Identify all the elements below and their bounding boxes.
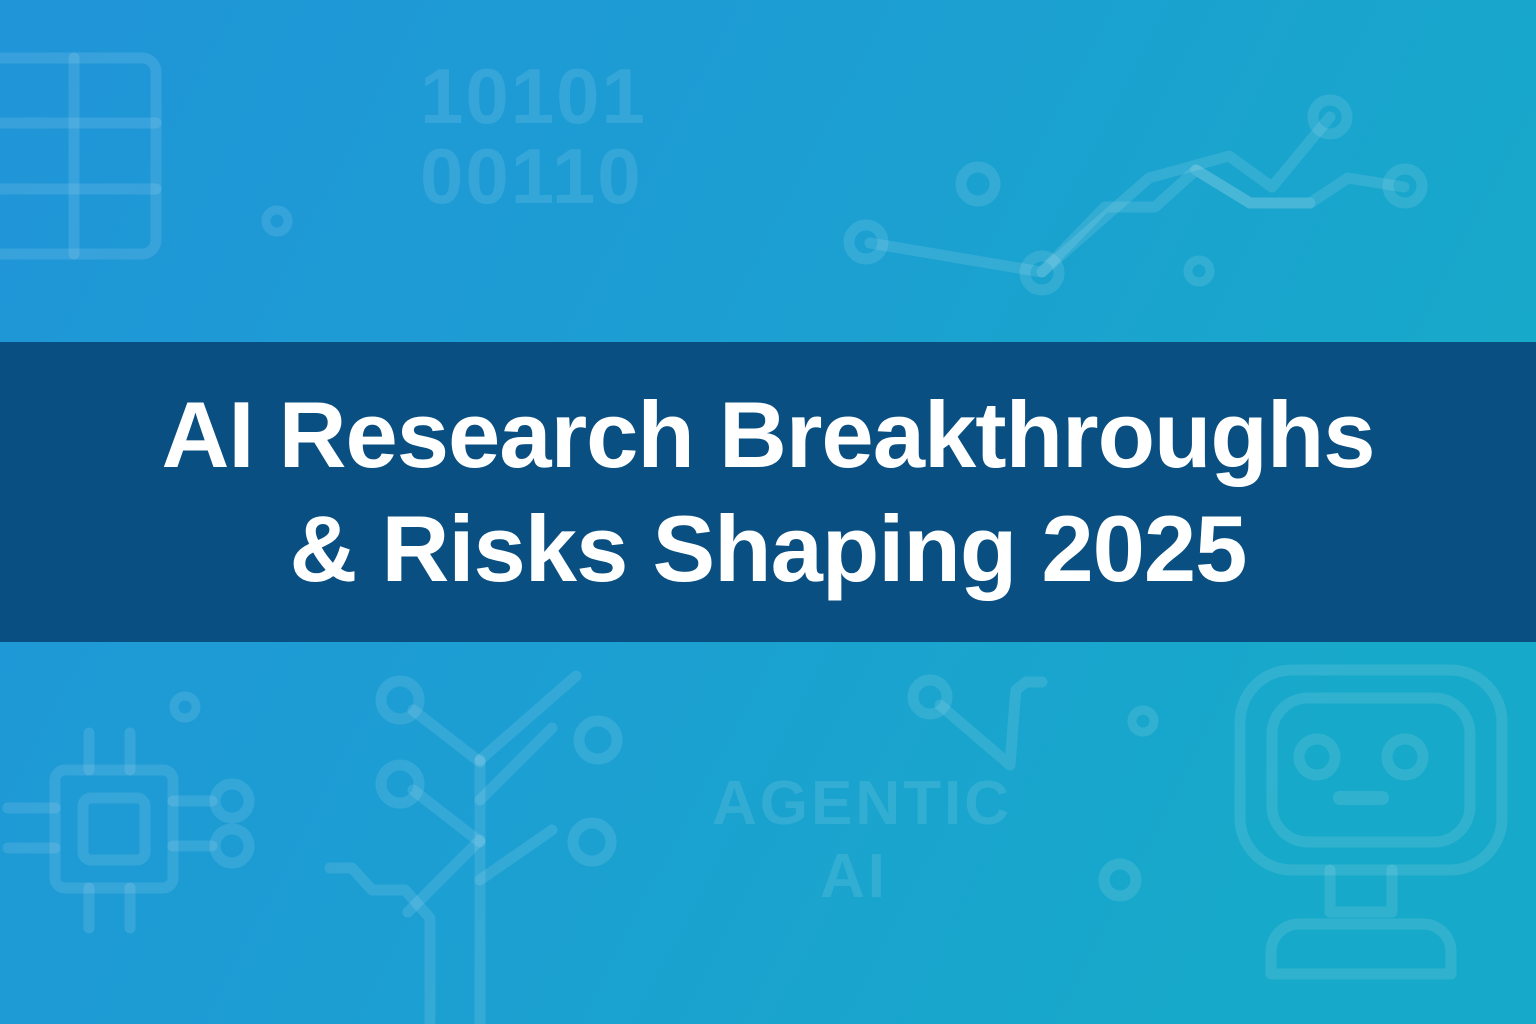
binary-text-line-2: 00110 [420, 136, 643, 216]
agentic-text-line-2: AI [820, 845, 888, 909]
page-title-line-2: & Risks Shaping 2025 [290, 492, 1247, 606]
page-title-line-1: AI Research Breakthroughs [161, 378, 1374, 492]
title-band: AI Research Breakthroughs & Risks Shapin… [0, 342, 1536, 642]
binary-text-line-1: 10101 [420, 56, 647, 136]
agentic-text-line-1: AGENTIC [712, 772, 1012, 836]
ai-banner: 10101 00110 AGENTIC AI AI Research Break… [0, 0, 1536, 1024]
